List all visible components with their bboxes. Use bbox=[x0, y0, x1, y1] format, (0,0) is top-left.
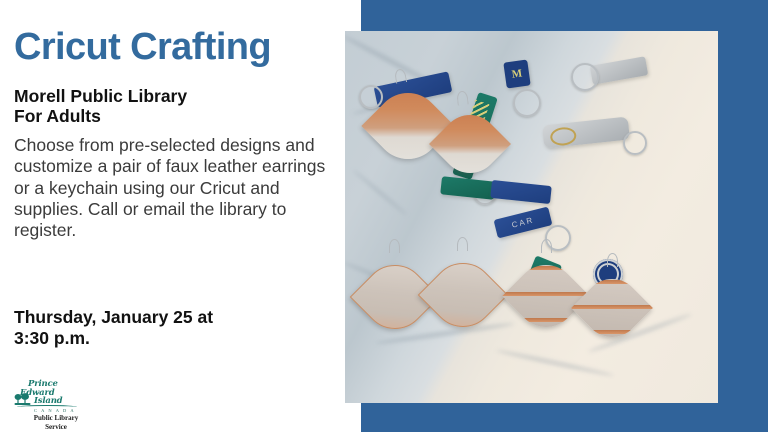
logo-caption: Public Library Service bbox=[8, 414, 104, 432]
logo-mark: Prince Edward Island C A N A D A bbox=[14, 381, 92, 411]
logo-caption-line-1: Public Library bbox=[8, 414, 104, 423]
earring-hook bbox=[389, 239, 400, 253]
event-time: 3:30 p.m. bbox=[14, 328, 334, 349]
keychain-monogram: M bbox=[503, 59, 530, 88]
description-text: Choose from pre-selected designs and cus… bbox=[14, 135, 334, 242]
keychain-car-tag: CAR bbox=[494, 207, 553, 239]
logo-wordmark: Prince Edward Island bbox=[28, 380, 62, 406]
event-datetime: Thursday, January 25 at 3:30 p.m. bbox=[14, 307, 334, 348]
logo-caption-line-2: Service bbox=[8, 423, 104, 432]
earring-hook bbox=[456, 90, 468, 105]
pei-public-library-service-logo: Prince Edward Island C A N A D A Public … bbox=[8, 381, 128, 429]
key-ring bbox=[571, 63, 599, 91]
event-photo: M CAR bbox=[345, 31, 718, 403]
subtitle: Morell Public Library For Adults bbox=[14, 86, 334, 126]
page-title: Cricut Crafting bbox=[14, 28, 271, 68]
logo-country: C A N A D A bbox=[34, 408, 75, 413]
key-ring bbox=[359, 85, 383, 109]
poster-canvas: M CAR bbox=[0, 0, 768, 432]
key-ring bbox=[623, 131, 647, 155]
keychain-green-flag bbox=[440, 176, 496, 200]
keychain-gray-opener bbox=[542, 117, 630, 149]
earring-striped-1 bbox=[502, 252, 590, 340]
keychain-navy-flag bbox=[490, 180, 552, 204]
subtitle-line-2: For Adults bbox=[14, 106, 334, 126]
event-date: Thursday, January 25 at bbox=[14, 307, 334, 328]
key-ring bbox=[513, 89, 541, 117]
earring-striped-2 bbox=[571, 267, 653, 349]
marble-vein bbox=[352, 169, 408, 216]
earring-hook bbox=[457, 237, 468, 251]
earring-hook bbox=[607, 253, 618, 267]
subtitle-line-1: Morell Public Library bbox=[14, 86, 334, 106]
text-column: Cricut Crafting Morell Public Library Fo… bbox=[0, 0, 345, 432]
photo-background: M CAR bbox=[345, 31, 718, 403]
earring-hook bbox=[541, 239, 552, 253]
marble-vein bbox=[496, 349, 614, 378]
